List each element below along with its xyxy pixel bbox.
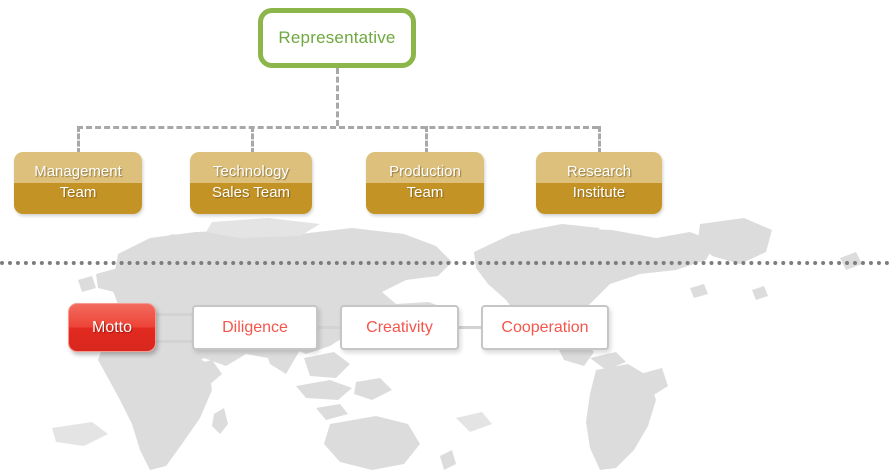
node-production-team[interactable]: Production Team [366, 152, 484, 214]
connector-diligence-creativity [316, 326, 342, 329]
connector-drop-production [425, 126, 428, 154]
connector-motto-diligence-lower [154, 340, 194, 343]
node-technology-sales-team-line2: Sales Team [212, 183, 290, 204]
connector-drop-management [77, 126, 80, 154]
node-motto[interactable]: Motto [68, 303, 156, 352]
node-production-team-line1: Production [389, 162, 461, 183]
connector-creativity-cooperation [457, 326, 483, 329]
node-diligence-label: Diligence [222, 319, 288, 337]
node-technology-sales-team-line1: Technology [213, 162, 289, 183]
node-cooperation[interactable]: Cooperation [481, 305, 609, 350]
connector-drop-research [598, 126, 601, 154]
node-research-institute-line2: Institute [573, 183, 626, 204]
node-diligence[interactable]: Diligence [192, 305, 318, 350]
node-technology-sales-team[interactable]: Technology Sales Team [190, 152, 312, 214]
node-research-institute-line1: Research [567, 162, 631, 183]
node-motto-label: Motto [92, 319, 132, 337]
node-cooperation-label: Cooperation [501, 319, 588, 337]
node-management-team-line2: Team [60, 183, 97, 204]
connector-bus-horizontal [77, 126, 598, 129]
connector-motto-diligence-upper [154, 313, 194, 316]
node-management-team-line1: Management [34, 162, 122, 183]
node-representative-label: Representative [278, 28, 395, 48]
node-representative[interactable]: Representative [258, 8, 416, 68]
node-creativity-label: Creativity [366, 319, 433, 337]
section-divider [0, 261, 890, 265]
connector-drop-technology [251, 126, 254, 154]
node-management-team[interactable]: Management Team [14, 152, 142, 214]
connector-root-stem [336, 68, 339, 126]
diagram-canvas: Representative Management Team Technolog… [0, 0, 890, 473]
node-production-team-line2: Team [407, 183, 444, 204]
node-creativity[interactable]: Creativity [340, 305, 459, 350]
node-research-institute[interactable]: Research Institute [536, 152, 662, 214]
